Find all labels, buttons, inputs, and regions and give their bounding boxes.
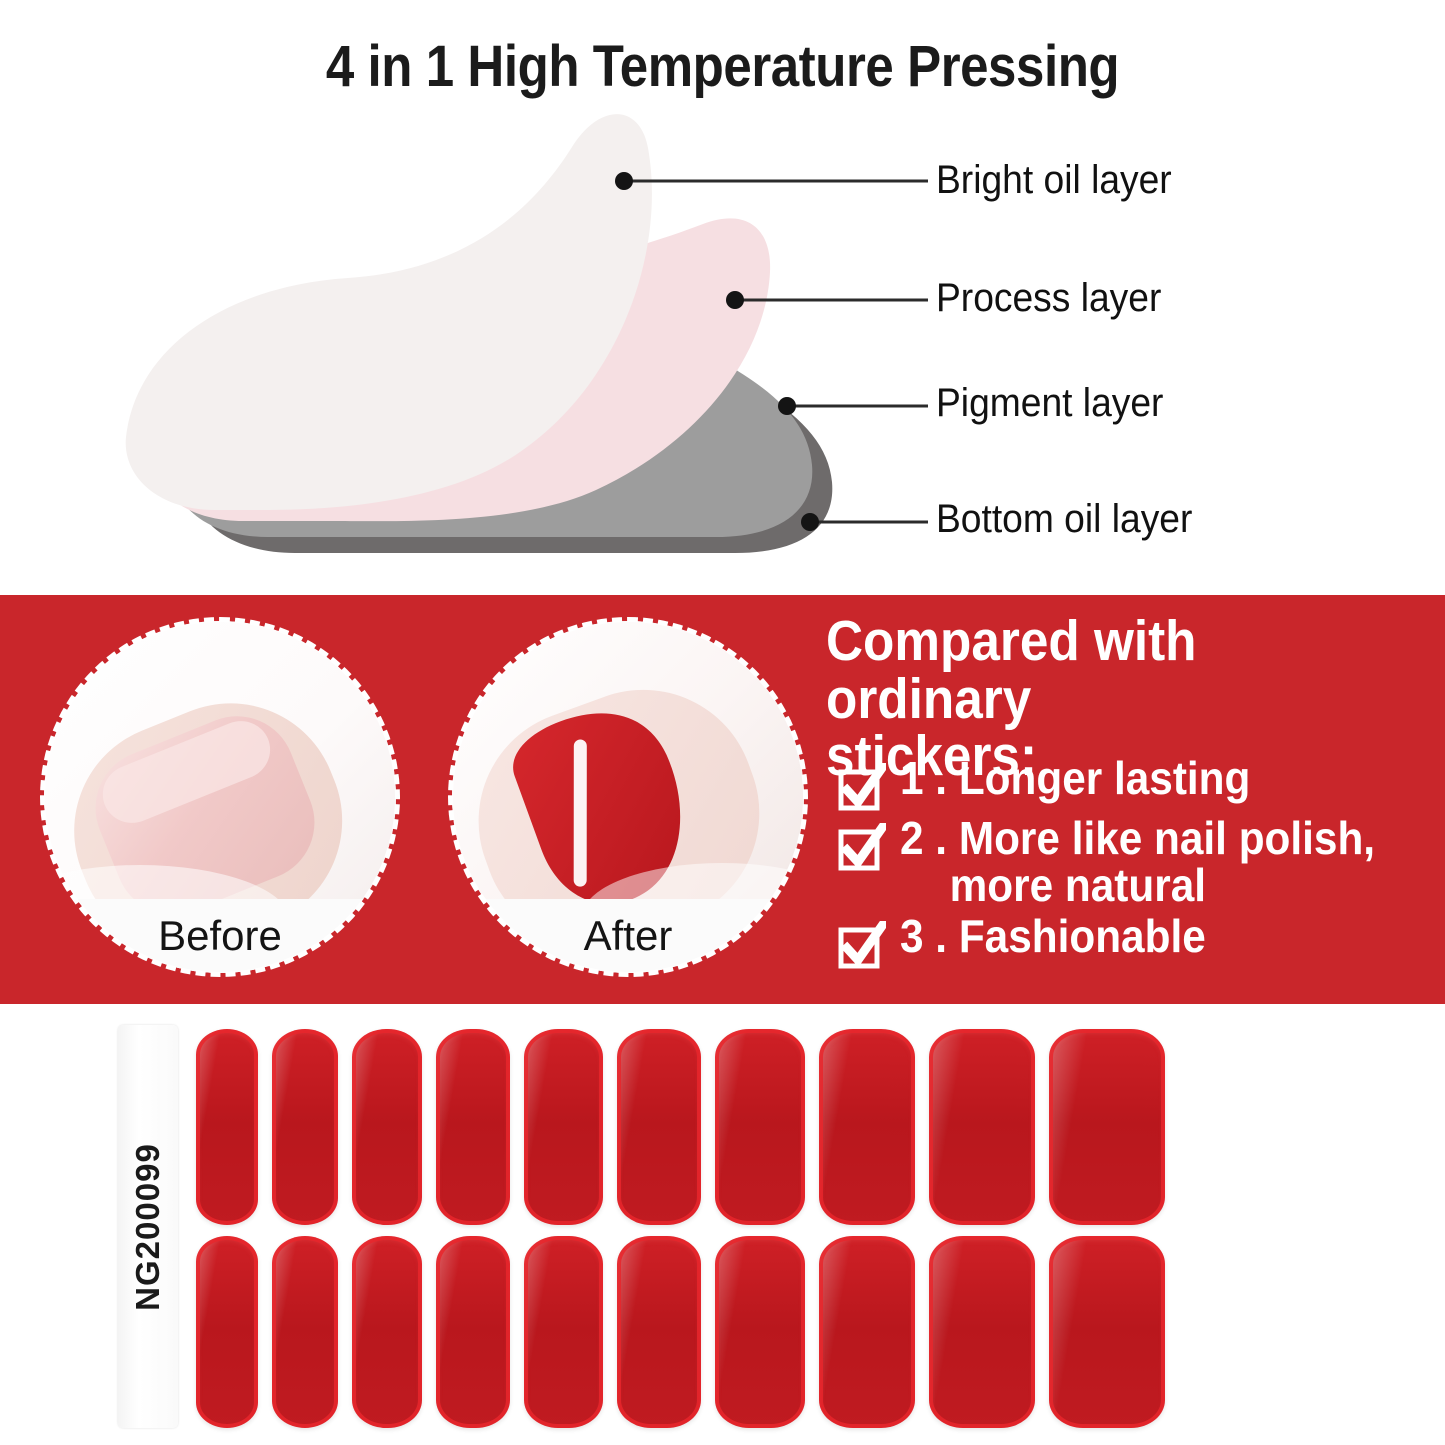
nail-strip xyxy=(715,1236,805,1428)
benefit-label-2: More like nail polish, xyxy=(959,812,1375,864)
nail-strip xyxy=(929,1029,1035,1225)
strip-row-bottom xyxy=(196,1236,1179,1428)
after-caption: After xyxy=(452,899,804,973)
checkbox-checked-icon xyxy=(838,763,886,811)
benefits-list: 1 . Longer lasting 2 . More like nail po… xyxy=(838,755,1445,973)
nail-strip xyxy=(524,1029,603,1225)
leader-dot-process xyxy=(726,291,744,309)
nail-strip xyxy=(352,1029,422,1225)
nail-strip xyxy=(1049,1029,1165,1225)
comparison-heading-line1: Compared with ordinary xyxy=(826,613,1377,728)
nail-strip xyxy=(1049,1236,1165,1428)
leader-dot-bright-oil xyxy=(615,172,633,190)
nail-strip xyxy=(929,1236,1035,1428)
nail-strip xyxy=(436,1029,510,1225)
nail-strip xyxy=(819,1236,915,1428)
label-bottom-oil-layer: Bottom oil layer xyxy=(936,497,1192,542)
nail-strip xyxy=(819,1029,915,1225)
benefit-number-1: 1 . xyxy=(900,752,947,804)
nail-strip xyxy=(617,1029,701,1225)
checkbox-checked-icon xyxy=(838,823,886,871)
product-code-label: NG200099 xyxy=(129,1143,167,1311)
benefit-text-3: 3 . Fashionable xyxy=(900,913,1206,960)
after-photo: After xyxy=(452,621,804,973)
checkbox-checked-icon xyxy=(838,921,886,969)
nail-strip xyxy=(436,1236,510,1428)
product-code-strip: NG200099 xyxy=(118,1025,178,1428)
benefit-number-3: 3 . xyxy=(900,910,947,962)
benefit-label-3: Fashionable xyxy=(959,910,1206,962)
before-photo: Before xyxy=(44,621,396,973)
nail-strip xyxy=(715,1029,805,1225)
benefit-label-1: Longer lasting xyxy=(959,752,1251,804)
benefit-item-2: 2 . More like nail polish, more natural xyxy=(838,815,1445,909)
benefit-item-1: 1 . Longer lasting xyxy=(838,755,1445,811)
leader-dot-bottom-oil xyxy=(801,513,819,531)
label-pigment-layer: Pigment layer xyxy=(936,381,1163,426)
before-caption: Before xyxy=(44,899,396,973)
nail-strip xyxy=(272,1236,338,1428)
benefit-text-1: 1 . Longer lasting xyxy=(900,755,1250,802)
leader-dot-pigment xyxy=(778,397,796,415)
benefit-label-2-sub: more natural xyxy=(950,862,1375,909)
nail-strip xyxy=(196,1029,258,1225)
nail-strip xyxy=(196,1236,258,1428)
benefit-item-3: 3 . Fashionable xyxy=(838,913,1445,969)
benefit-text-2: 2 . More like nail polish, more natural xyxy=(900,815,1375,909)
nail-strip xyxy=(524,1236,603,1428)
product-sheet-panel: NG200099 xyxy=(0,1004,1445,1445)
strip-row-top xyxy=(196,1029,1179,1225)
label-bright-oil-layer: Bright oil layer xyxy=(936,158,1172,203)
benefit-number-2: 2 . xyxy=(900,812,947,864)
layers-diagram-panel: 4 in 1 High Temperature Pressing Bright … xyxy=(0,0,1445,595)
nail-strip xyxy=(617,1236,701,1428)
nail-layers-illustration xyxy=(0,0,1445,595)
nail-strip xyxy=(352,1236,422,1428)
nail-strip xyxy=(272,1029,338,1225)
label-process-layer: Process layer xyxy=(936,276,1161,321)
comparison-panel: Before xyxy=(0,595,1445,1004)
